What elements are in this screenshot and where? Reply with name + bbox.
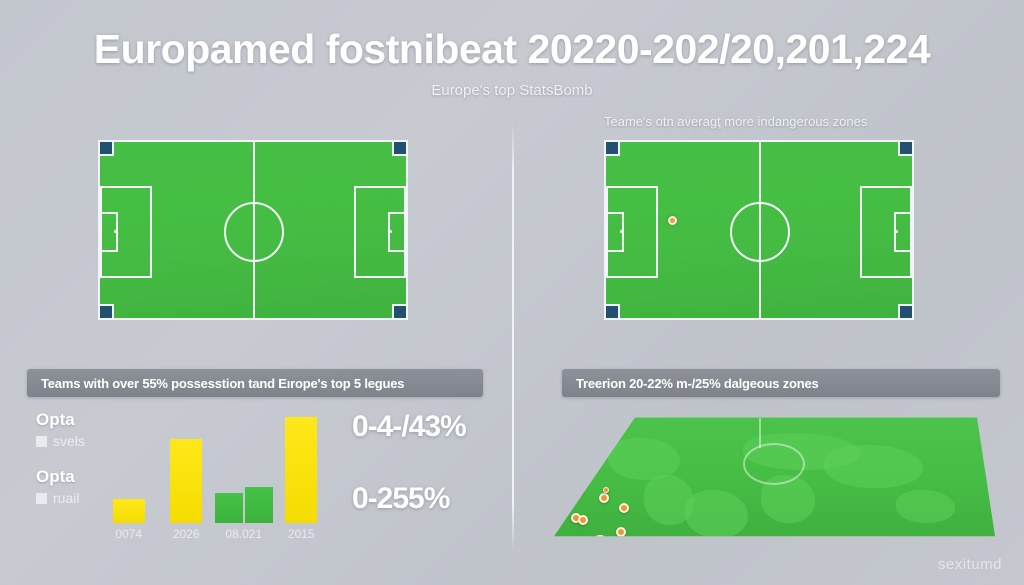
bar-chart: [100, 408, 330, 523]
right-banner-label: Treerion 20-22% m-/25% dalgeous zones: [562, 376, 819, 391]
left-banner-label: Teams with over 55% possesstion tand Eır…: [27, 376, 404, 391]
bar[interactable]: [113, 499, 145, 523]
event-marker-icon: [668, 216, 677, 225]
corner-marker-top-left: [604, 140, 620, 156]
axis-tick-label: 08.021: [215, 527, 273, 541]
legend-item-label: ruail: [53, 490, 79, 506]
legend-item-label: svels: [53, 433, 85, 449]
stat-value-1: 0-4-/43%: [352, 410, 502, 444]
map-pitch-border: [545, 415, 995, 540]
penalty-spot-left: [620, 230, 623, 233]
panel-divider: [512, 122, 514, 552]
page-title: Europamed fostnibeat 20220-202/20,201,22…: [0, 26, 1024, 73]
bar[interactable]: [245, 487, 273, 523]
stat-values: 0-4-/43% 0-255%: [352, 410, 502, 516]
bar-chart-axis-labels: 0074202608.0212015: [80, 527, 350, 545]
left-section-banner: Teams with over 55% possesstion tand Eır…: [27, 369, 483, 397]
penalty-spot-right: [389, 230, 392, 233]
bar[interactable]: [285, 417, 317, 523]
football-pitch-right: [604, 140, 914, 320]
bar[interactable]: [170, 439, 202, 523]
axis-tick-label: 2015: [273, 527, 331, 541]
corner-marker-top-right: [392, 140, 408, 156]
legend-swatch-icon: [36, 493, 47, 504]
header: Europamed fostnibeat 20220-202/20,201,22…: [0, 0, 1024, 112]
map-marker-icon[interactable]: [569, 477, 579, 487]
map-marker-icon[interactable]: [574, 485, 584, 495]
centre-circle: [224, 202, 284, 262]
page-subtitle: Europe's top StatsBomb: [0, 82, 1024, 99]
football-pitch-left: [98, 140, 408, 320]
corner-marker-bottom-right: [898, 304, 914, 320]
map-marker-icon[interactable]: [592, 535, 607, 550]
bar[interactable]: [215, 493, 243, 523]
world-map-pitch: [545, 415, 995, 540]
penalty-spot-right: [895, 230, 898, 233]
map-marker-icon[interactable]: [623, 563, 629, 569]
axis-tick-label: 0074: [100, 527, 158, 541]
legend-swatch-icon: [36, 436, 47, 447]
corner-marker-top-left: [98, 140, 114, 156]
stat-value-2: 0-255%: [352, 482, 502, 516]
penalty-spot-left: [114, 230, 117, 233]
right-pitch-caption: Teame's otn averagţ more indangerous zon…: [604, 114, 1004, 129]
axis-tick-label: 2026: [158, 527, 216, 541]
watermark: sexitumd: [938, 556, 1002, 573]
right-section-banner: Treerion 20-22% m-/25% dalgeous zones: [562, 369, 1000, 397]
corner-marker-bottom-right: [392, 304, 408, 320]
map-marker-icon[interactable]: [563, 453, 569, 459]
map-marker-icon[interactable]: [596, 535, 606, 545]
centre-circle: [730, 202, 790, 262]
map-marker-icon[interactable]: [586, 457, 596, 467]
corner-marker-bottom-left: [604, 304, 620, 320]
corner-marker-top-right: [898, 140, 914, 156]
corner-marker-bottom-left: [98, 304, 114, 320]
